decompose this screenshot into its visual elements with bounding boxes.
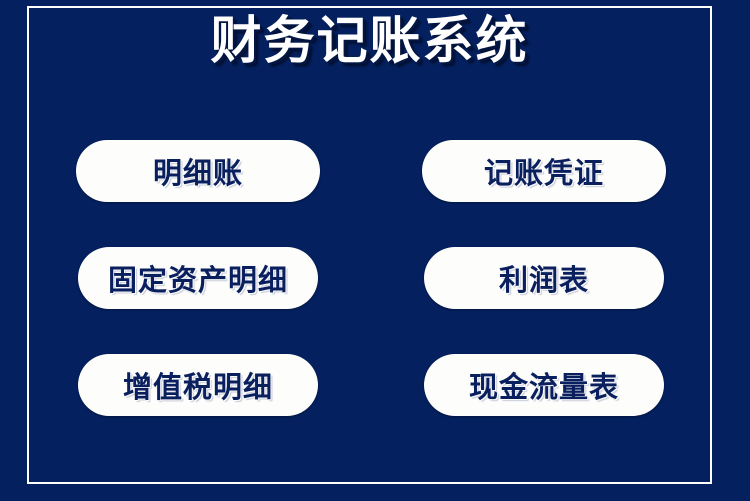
menu-grid: 明细账 记账凭证 固定资产明细 利润表 增值税明细 现金流量表 xyxy=(56,118,686,438)
app-root: 财务记账系统 明细账 记账凭证 固定资产明细 利润表 增值税明细 现金流量表 xyxy=(0,0,750,501)
menu-button-detail-ledger[interactable]: 明细账 xyxy=(76,140,320,202)
page-title-container: 财务记账系统 xyxy=(27,14,712,69)
menu-button-label: 固定资产明细 xyxy=(108,257,288,299)
menu-button-accounting-voucher[interactable]: 记账凭证 xyxy=(422,140,666,202)
menu-button-fixed-asset-detail[interactable]: 固定资产明细 xyxy=(78,247,318,309)
menu-button-label: 现金流量表 xyxy=(469,364,619,406)
menu-button-income-statement[interactable]: 利润表 xyxy=(424,247,664,309)
page-title: 财务记账系统 xyxy=(210,14,528,69)
menu-button-label: 明细账 xyxy=(153,150,243,192)
menu-button-cash-flow-statement[interactable]: 现金流量表 xyxy=(424,354,664,416)
menu-button-label: 增值税明细 xyxy=(123,364,273,406)
menu-button-label: 记账凭证 xyxy=(484,150,604,192)
menu-button-vat-detail[interactable]: 增值税明细 xyxy=(78,354,318,416)
menu-button-label: 利润表 xyxy=(499,257,589,299)
